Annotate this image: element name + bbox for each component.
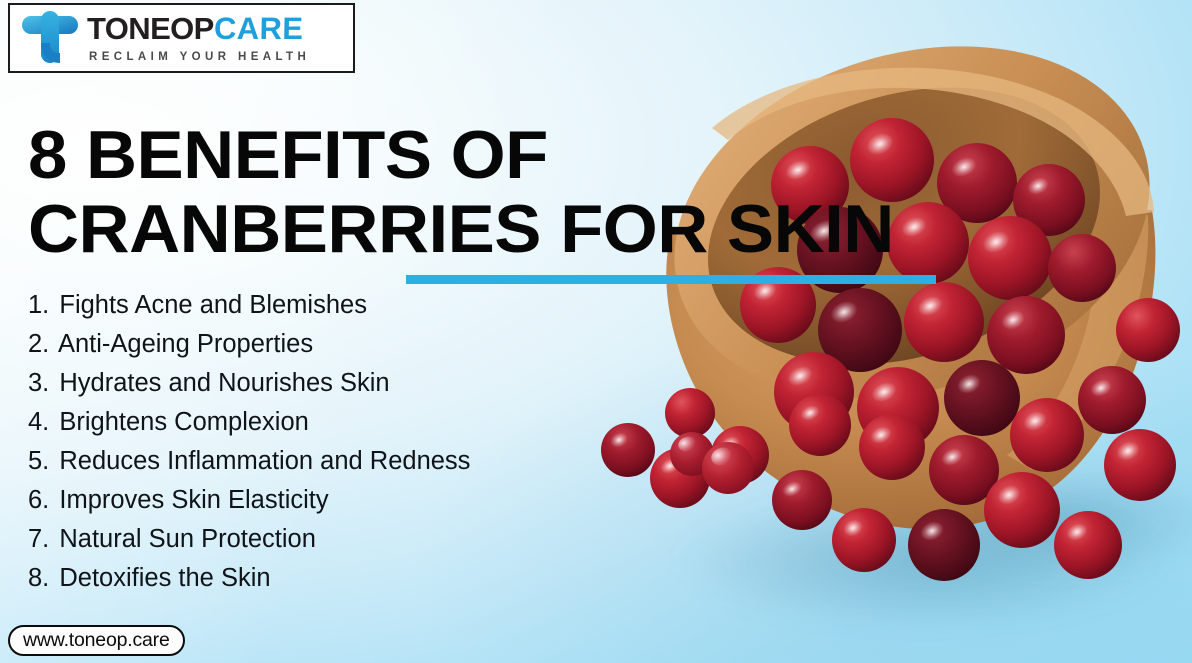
cranberry-illustration bbox=[592, 0, 1192, 663]
benefit-item: 7. Natural Sun Protection bbox=[28, 520, 470, 559]
benefit-label: Fights Acne and Blemishes bbox=[52, 291, 367, 319]
floating-berry-small-2 bbox=[702, 442, 754, 494]
benefit-number: 5. bbox=[28, 447, 49, 475]
benefit-item: 8. Detoxifies the Skin bbox=[28, 559, 470, 598]
website-url-text: www.toneop.care bbox=[23, 629, 170, 652]
logo-toneop-text: TONEOP bbox=[87, 13, 214, 44]
toneop-t-mark-icon bbox=[19, 9, 81, 67]
page-title: 8 BENEFITS OF CRANBERRIES FOR SKIN bbox=[28, 118, 894, 266]
benefit-number: 1. bbox=[28, 291, 49, 319]
benefit-number: 8. bbox=[28, 564, 49, 592]
benefit-label: Reduces Inflammation and Redness bbox=[52, 447, 470, 475]
benefit-item: 2. Anti-Ageing Properties bbox=[28, 325, 470, 364]
logo-tagline: RECLAIM YOUR HEALTH bbox=[89, 51, 310, 63]
benefit-label: Improves Skin Elasticity bbox=[52, 486, 328, 514]
title-underline-bar bbox=[406, 275, 936, 284]
logo-care-text: CARE bbox=[213, 13, 303, 44]
benefit-number: 2. bbox=[28, 330, 49, 358]
benefit-label: Brightens Complexion bbox=[52, 408, 309, 436]
benefit-item: 4. Brightens Complexion bbox=[28, 403, 470, 442]
website-url-badge[interactable]: www.toneop.care bbox=[8, 625, 185, 656]
benefit-label: Detoxifies the Skin bbox=[52, 564, 270, 592]
benefit-number: 6. bbox=[28, 486, 49, 514]
benefit-label: Natural Sun Protection bbox=[52, 525, 316, 553]
brand-logo[interactable]: TONEOP CARE RECLAIM YOUR HEALTH bbox=[8, 3, 355, 73]
benefits-list: 1. Fights Acne and Blemishes2. Anti-Agei… bbox=[28, 286, 470, 598]
benefit-item: 6. Improves Skin Elasticity bbox=[28, 481, 470, 520]
logo-wordmark: TONEOP CARE RECLAIM YOUR HEALTH bbox=[87, 13, 310, 63]
benefit-item: 1. Fights Acne and Blemishes bbox=[28, 286, 470, 325]
benefit-number: 7. bbox=[28, 525, 49, 553]
benefit-item: 5. Reduces Inflammation and Redness bbox=[28, 442, 470, 481]
cranberry-photo bbox=[592, 0, 1192, 663]
benefit-number: 4. bbox=[28, 408, 49, 436]
benefit-label: Anti-Ageing Properties bbox=[52, 330, 313, 358]
poster-canvas: TONEOP CARE RECLAIM YOUR HEALTH 8 BENEFI… bbox=[0, 0, 1192, 663]
benefit-item: 3. Hydrates and Nourishes Skin bbox=[28, 364, 470, 403]
benefit-label: Hydrates and Nourishes Skin bbox=[52, 369, 389, 397]
benefit-number: 3. bbox=[28, 369, 49, 397]
